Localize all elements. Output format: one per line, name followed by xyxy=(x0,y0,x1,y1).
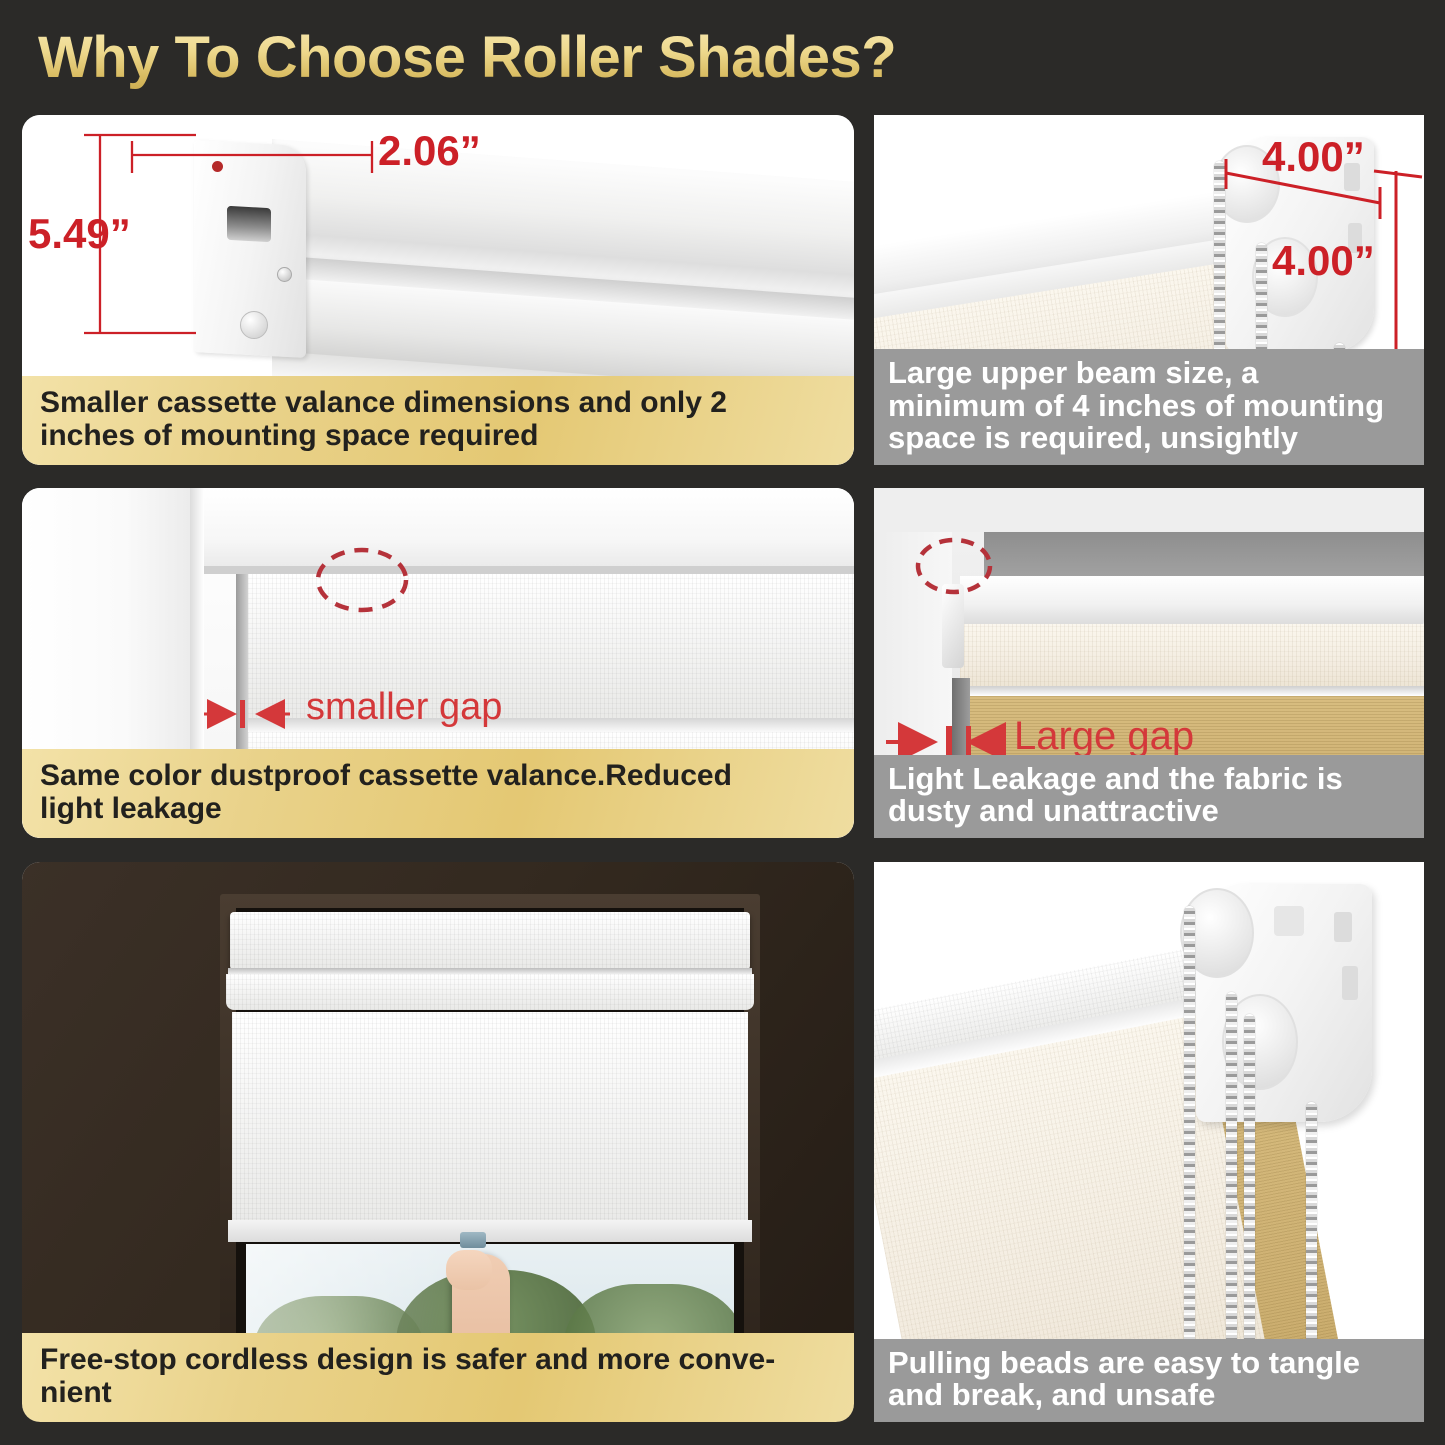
dimension-label-width: 4.00” xyxy=(1262,133,1365,181)
page-title: Why To Choose Roller Shades? xyxy=(38,22,1038,94)
caption-line: Same color dustproof cassette valance.Re… xyxy=(40,759,840,793)
caption-line: Pulling beads are easy to tangle xyxy=(888,1347,1414,1380)
roller-shade-valance xyxy=(230,912,750,970)
caption-line: and break, and unsafe xyxy=(888,1379,1414,1412)
caption-light-leakage: Light Leakage and the fabric is dusty an… xyxy=(874,755,1424,838)
caption-large-upper-beam: Large upper beam size, a minimum of 4 in… xyxy=(874,349,1424,465)
caption-line: inches of mounting space required xyxy=(40,419,840,453)
caption-line: Large upper beam size, a xyxy=(888,357,1414,390)
gap-label: smaller gap xyxy=(306,686,502,729)
gap-label: Large gap xyxy=(1014,714,1194,759)
panel-pulling-beads: Pulling beads are easy to tangle and bre… xyxy=(874,862,1424,1422)
caption-cordless-design: Free-stop cordless design is safer and m… xyxy=(22,1333,854,1422)
caption-line: Smaller cassette valance dimensions and … xyxy=(40,386,840,420)
caption-line: nient xyxy=(40,1376,840,1410)
caption-line: space is required, unsightly xyxy=(888,422,1414,455)
caption-cassette-dimensions: Smaller cassette valance dimensions and … xyxy=(22,376,854,465)
dimension-label-height: 4.00” xyxy=(1272,237,1375,285)
panel-cassette-dimensions: 2.06” 5.49” Smaller cassette valance dim… xyxy=(22,115,854,465)
panel-cordless-design: Free-stop cordless design is safer and m… xyxy=(22,862,854,1422)
shade-pull-tab xyxy=(460,1232,486,1248)
caption-pulling-beads: Pulling beads are easy to tangle and bre… xyxy=(874,1339,1424,1422)
panel-dustproof-cassette: smaller gap Same color dustproof cassett… xyxy=(22,488,854,838)
infographic-root: Why To Choose Roller Shades? xyxy=(0,0,1445,1445)
roller-shade-body xyxy=(232,1012,748,1234)
panel-large-upper-beam: 4.00” 4.00” Large upper beam size, a min… xyxy=(874,115,1424,465)
caption-line: minimum of 4 inches of mounting xyxy=(888,390,1414,423)
dimension-label-width: 2.06” xyxy=(378,127,481,175)
dimension-label-height: 5.49” xyxy=(28,210,131,258)
panel-light-leakage: Large gap Light Leakage and the fabric i… xyxy=(874,488,1424,838)
caption-line: Free-stop cordless design is safer and m… xyxy=(40,1343,840,1377)
caption-dustproof-cassette: Same color dustproof cassette valance.Re… xyxy=(22,749,854,838)
caption-line: Light Leakage and the fabric is xyxy=(888,763,1414,796)
caption-line: dusty and unattractive xyxy=(888,795,1414,828)
caption-line: light leakage xyxy=(40,792,840,826)
